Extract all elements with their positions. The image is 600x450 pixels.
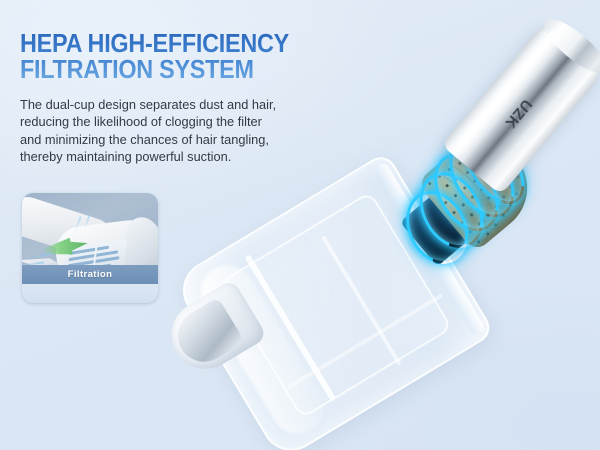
- description-line: The dual-cup design separates dust and h…: [20, 96, 330, 113]
- product-feature-banner: UZK HEPA HIGH-EFFICIENCY FILTRATION SYST…: [0, 0, 600, 450]
- headline-line: HEPA HIGH-EFFICIENCY: [20, 30, 317, 56]
- description-text: The dual-cup design separates dust and h…: [20, 96, 330, 165]
- description-line: reducing the likelihood of clogging the …: [20, 113, 330, 130]
- inset-base-strip: [22, 284, 158, 303]
- filtration-inset-card: Filtration: [22, 193, 158, 303]
- handle-gloss-highlight: [453, 28, 563, 156]
- page-title: HEPA HIGH-EFFICIENCY FILTRATION SYSTEM: [20, 30, 317, 82]
- inset-caption: Filtration: [22, 265, 158, 284]
- description-line: and minimizing the chances of hair tangl…: [20, 131, 330, 148]
- description-line: thereby maintaining powerful suction.: [20, 148, 330, 165]
- headline-line: FILTRATION SYSTEM: [20, 56, 317, 82]
